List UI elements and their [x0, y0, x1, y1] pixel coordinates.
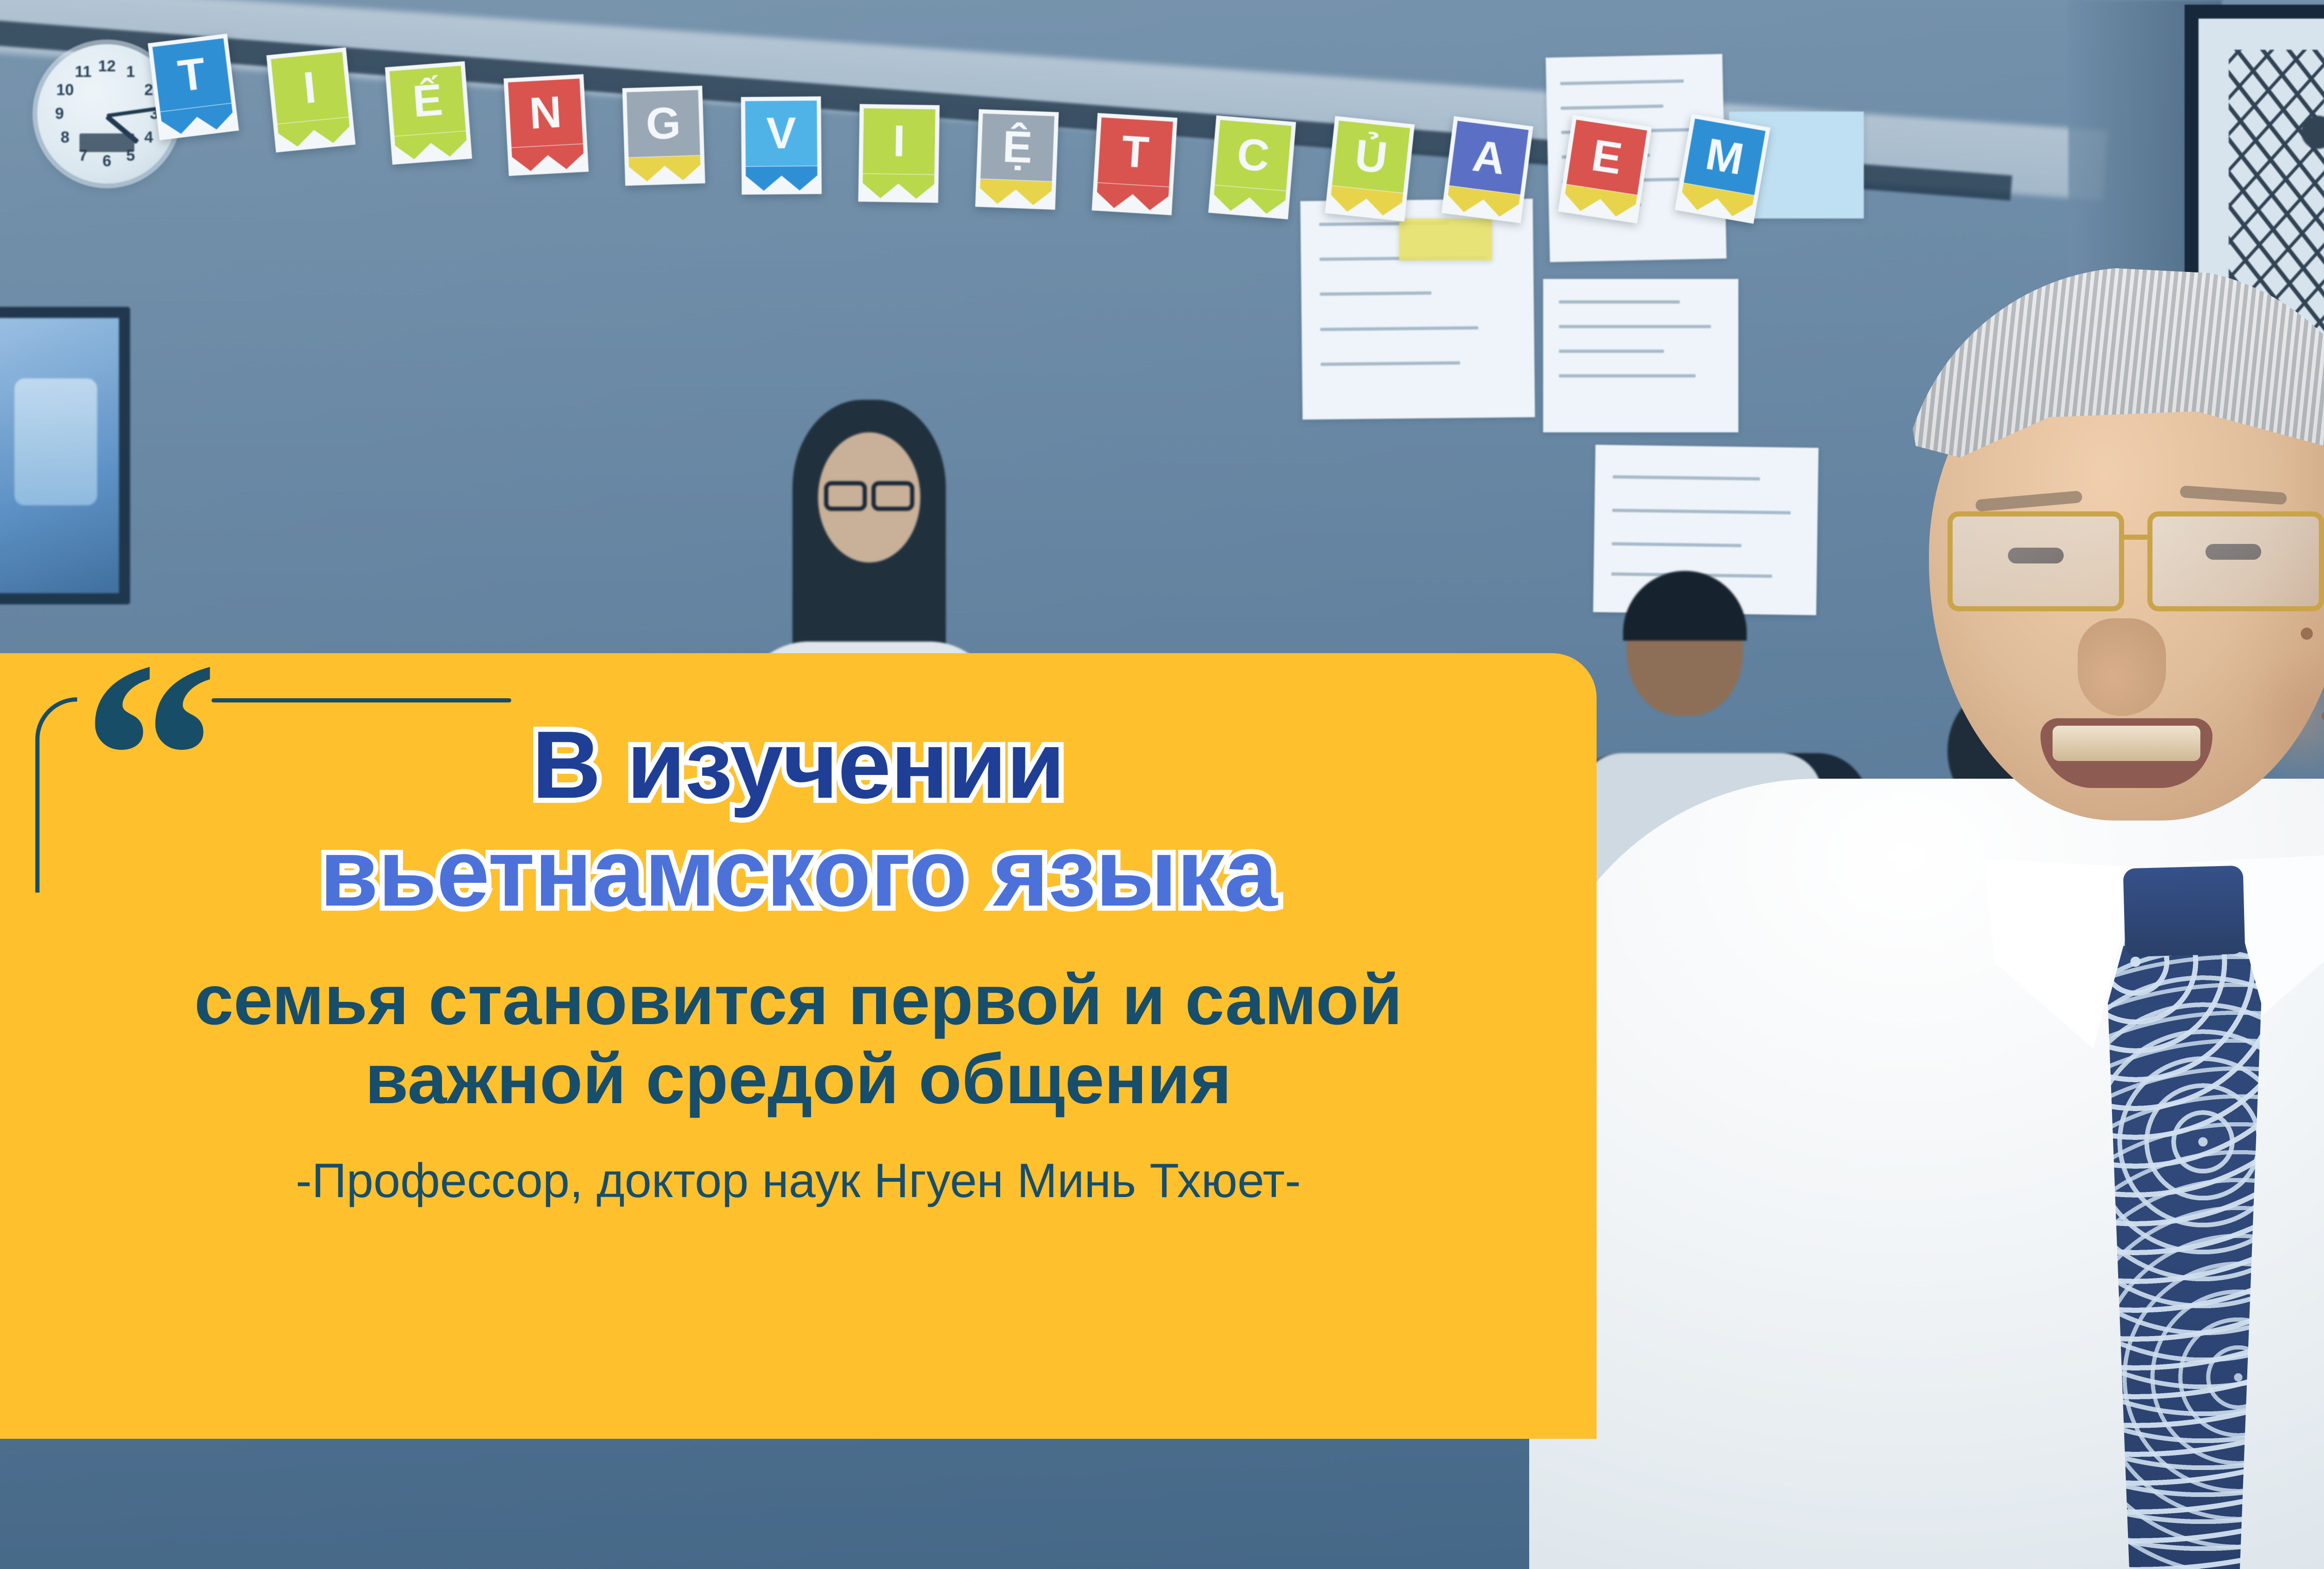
banner-flag-panel: Ế: [390, 66, 466, 136]
subheading-line-1: семья становится первой и самой: [194, 960, 1402, 1039]
eyeglass-lens-left: [1948, 511, 2124, 611]
clock-numeral: 1: [126, 63, 135, 81]
banner-flag-letter: C: [1235, 132, 1271, 179]
presenter-glasses: [819, 480, 919, 512]
banner-flag-letter: Ế: [411, 78, 444, 125]
eyeglass-bridge: [2123, 535, 2150, 540]
attribution: -Профессор, доктор наук Нгуен Минь Тхюет…: [296, 1153, 1301, 1209]
banner-flag-tail: [512, 144, 585, 172]
banner-flag-tail: [395, 131, 468, 161]
banner-flag-letter: I: [893, 119, 906, 164]
banner-flag: I: [266, 47, 356, 152]
banner-flag-letter: N: [528, 90, 563, 136]
banner-flag-letter: A: [1470, 133, 1508, 182]
banner-flag-panel: T: [1097, 118, 1173, 187]
banner-flag-letter: I: [301, 65, 318, 111]
subject-mole: [2301, 628, 2313, 640]
banner-flag-tail: [1096, 183, 1169, 212]
clock-digital-display: [79, 133, 134, 152]
banner-flag: T: [148, 33, 239, 140]
banner-flag-panel: G: [627, 90, 700, 158]
banner-flag: Ủ: [1325, 116, 1414, 222]
banner-flag-letter: T: [1120, 129, 1150, 175]
subject-teeth: [2053, 726, 2200, 761]
wall-poster-left: [0, 307, 130, 604]
banner-flag-panel: Ệ: [980, 113, 1054, 181]
banner-flag: V: [741, 96, 822, 194]
clock-numeral: 12: [98, 58, 116, 76]
subject-necktie: [2108, 879, 2261, 1569]
subject-mouth: [2040, 718, 2212, 788]
banner-flag-letter: V: [766, 111, 797, 156]
banner-flag-panel: C: [1215, 120, 1291, 191]
quote-text-block: В изучении вьетнамского языка семья стан…: [0, 653, 1597, 1439]
subject-eyeglasses: [1948, 507, 2324, 628]
banner-flag: N: [504, 74, 589, 176]
banner-flag-letter: Ủ: [1353, 133, 1389, 181]
subheading: семья становится первой и самой важной с…: [194, 960, 1402, 1119]
banner-flag-panel: N: [508, 79, 583, 147]
eyeglass-lens-right: [2147, 511, 2324, 611]
quote-graphic: 12 1 2 3 4 5 6 7 8 9 10 11 TIẾNGVIỆTCỦA: [0, 0, 2324, 1569]
banner-flag-panel: A: [1449, 121, 1529, 195]
subject-nose: [2078, 618, 2166, 716]
banner-flags: TIẾNGVIỆTCỦAEM: [139, 28, 1766, 270]
banner-flag: G: [622, 86, 705, 186]
subject-tie-knot: [2123, 866, 2245, 957]
headline-line-2: вьетнамского языка: [320, 824, 1277, 921]
banner-flag-panel: Ủ: [1332, 121, 1410, 193]
banner-flag-tail: [629, 156, 701, 182]
clock-numeral: 10: [56, 81, 74, 99]
banner-flag-letter: T: [176, 51, 208, 99]
banner-flag-letter: G: [646, 101, 682, 146]
subject-portrait: [1529, 153, 2324, 1569]
clock-numeral: 6: [103, 152, 112, 171]
subheading-line-2: важной средой общения: [194, 1039, 1402, 1119]
banner-flag-tail: [746, 166, 818, 191]
banner-flag-panel: I: [271, 52, 349, 124]
banner-flag: I: [858, 104, 940, 203]
banner-flag-tail: [863, 174, 935, 199]
banner-flag: Ế: [385, 61, 472, 165]
banner-flag: A: [1441, 116, 1533, 223]
banner-flag: C: [1208, 115, 1296, 219]
banner-flag: T: [1091, 113, 1177, 215]
banner-flag-tail: [979, 179, 1052, 206]
clock-numeral: 11: [75, 63, 92, 81]
banner-flag-panel: I: [863, 108, 936, 174]
banner-flag: Ệ: [975, 109, 1059, 210]
clock-numeral: 9: [55, 105, 64, 123]
banner-flag-letter: Ệ: [1002, 125, 1033, 170]
banner-flag-panel: V: [746, 100, 818, 166]
classroom-banner: TIẾNGVIỆTCỦAEM: [139, 28, 1766, 270]
clock-numeral: 8: [61, 129, 70, 147]
banner-flag-panel: T: [152, 38, 231, 112]
headline-line-1: В изучении: [532, 716, 1064, 814]
